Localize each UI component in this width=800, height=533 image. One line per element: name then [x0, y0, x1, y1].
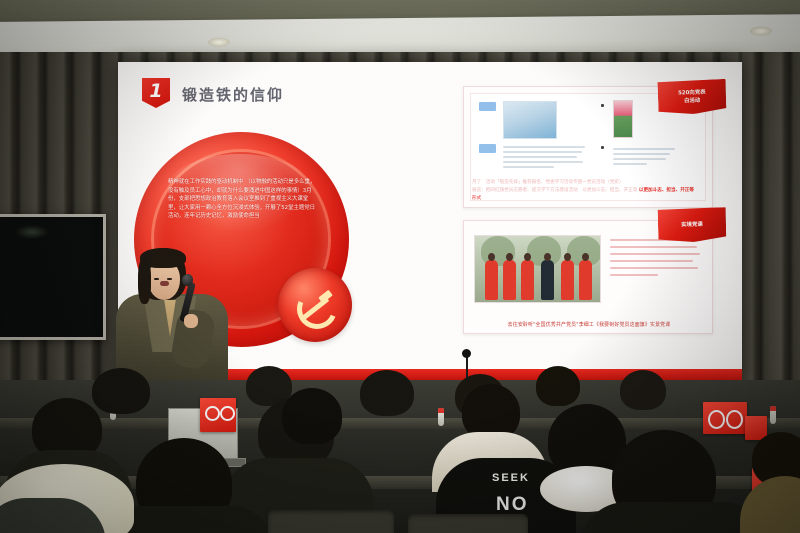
panel-bottom-caption: 去往安聆听"全国优秀共产党员"李细工《我要树好党员这面旗》实景党课: [474, 321, 704, 328]
slide-section-number: 1: [142, 78, 170, 108]
caption-line-with-highlight: 展览：把四红旗党员志愿者、提交学下方法建设活动 以更加斗志、担当、开正等 以更加…: [472, 187, 704, 195]
red-gift-bag: [703, 402, 747, 434]
chair-back: [408, 514, 528, 533]
ribbon-line-1: 实境党课: [681, 221, 703, 230]
doc-thumbnail-image: [503, 101, 557, 139]
bag-circle-motif: [220, 406, 235, 421]
person-figure: [521, 260, 534, 300]
bullet-icon: [601, 146, 604, 149]
bag-circle-motif: [708, 410, 725, 429]
audience-head: [360, 370, 414, 416]
audience-head: [536, 366, 580, 406]
water-bottle: [770, 406, 776, 424]
photo-scene: 1 锻造铁的信仰 精神就在工作实践的驱动机制中 （以物融的活动只是多么重，没有触…: [0, 0, 800, 533]
monitor-glare: [15, 225, 49, 239]
wall-monitor: [0, 214, 106, 340]
panel-bottom-text-block: [610, 239, 702, 281]
presenter-eye: [154, 278, 159, 280]
caption-line: 月了 活动「锻造先锋」推荐报名、党委学习活动专题一党员活动（党史）: [472, 179, 704, 187]
ribbon-line-2: 白活动: [684, 97, 700, 106]
ribbon-banner-520: 520向党表 白活动: [657, 79, 726, 115]
person-figure: [541, 260, 554, 300]
presenter-hand: [184, 314, 198, 328]
bag-circle-motif: [726, 410, 743, 429]
doc-text-block: [503, 146, 585, 171]
presenter-figure: [112, 248, 230, 388]
audience-head: [282, 388, 342, 444]
jacket-text-seek: SEEK: [492, 472, 530, 484]
doc-tag-icon: [479, 102, 496, 111]
group-photo-image: [474, 235, 601, 303]
person-figure: [579, 260, 592, 300]
audience-head: [92, 368, 150, 414]
party-emblem: [278, 268, 352, 342]
flower-thumbnail-image: [613, 100, 633, 138]
doc-text-block: [613, 148, 675, 168]
caption-highlight: 以更加斗志、担当、开正等: [639, 188, 694, 193]
bag-circle-motif: [205, 406, 220, 421]
water-bottle: [438, 408, 444, 426]
hammer-sickle-icon: [295, 285, 335, 325]
downlight-icon: [750, 26, 772, 35]
gooseneck-mic-head: [462, 349, 471, 358]
person-figure: [503, 260, 516, 300]
red-gift-bag: [200, 398, 236, 432]
caption-label: 形式: [472, 195, 704, 203]
ribbon-banner-live-lesson: 实境党课: [658, 207, 727, 243]
downlight-icon: [208, 38, 230, 47]
jacket-text-no: NO: [496, 494, 529, 516]
chair-back: [268, 510, 394, 533]
presenter-hair-side: [138, 258, 151, 304]
person-figure: [485, 260, 498, 300]
audience-area: SEEK NO: [0, 380, 800, 533]
bullet-icon: [601, 104, 604, 107]
desk-row: [0, 418, 800, 429]
ring-body-text: 精神就在工作实践的驱动机制中 （以物融的活动只是多么重，没有触及员工心中，却就为…: [168, 178, 318, 221]
right-wall-slats: [742, 52, 800, 397]
audience-head: [620, 370, 666, 410]
person-figure: [561, 260, 574, 300]
presenter-mouth: [160, 281, 169, 286]
presenter-eye: [167, 278, 172, 280]
doc-tag-icon: [479, 144, 496, 153]
panel-top-caption: 月了 活动「锻造先锋」推荐报名、党委学习活动专题一党员活动（党史） 展览：把四红…: [472, 179, 704, 203]
slide-title: 锻造铁的信仰: [182, 84, 284, 105]
